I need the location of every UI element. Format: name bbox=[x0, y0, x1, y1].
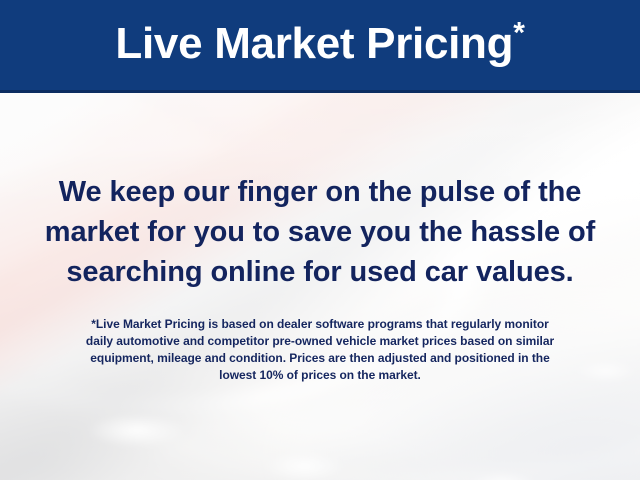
disclaimer-line-1: *Live Market Pricing is based on dealer … bbox=[30, 316, 610, 333]
headline-line-2: market for you to save you the hassle of bbox=[0, 212, 640, 252]
title-banner: Live Market Pricing* bbox=[0, 0, 640, 93]
headline-line-3: searching online for used car values. bbox=[0, 252, 640, 292]
headline-line-1: We keep our finger on the pulse of the bbox=[0, 172, 640, 212]
page-title-asterisk: * bbox=[513, 16, 524, 49]
live-market-pricing-promo-card: Live Market Pricing* We keep our finger … bbox=[0, 0, 640, 480]
headline-copy: We keep our finger on the pulse of the m… bbox=[0, 172, 640, 292]
disclaimer-line-3: equipment, mileage and condition. Prices… bbox=[30, 350, 610, 367]
page-title: Live Market Pricing* bbox=[115, 22, 524, 68]
disclaimer-line-4: lowest 10% of prices on the market. bbox=[30, 367, 610, 384]
disclaimer-fine-print: *Live Market Pricing is based on dealer … bbox=[30, 316, 610, 384]
page-title-text: Live Market Pricing bbox=[115, 19, 513, 68]
disclaimer-line-2: daily automotive and competitor pre-owne… bbox=[30, 333, 610, 350]
